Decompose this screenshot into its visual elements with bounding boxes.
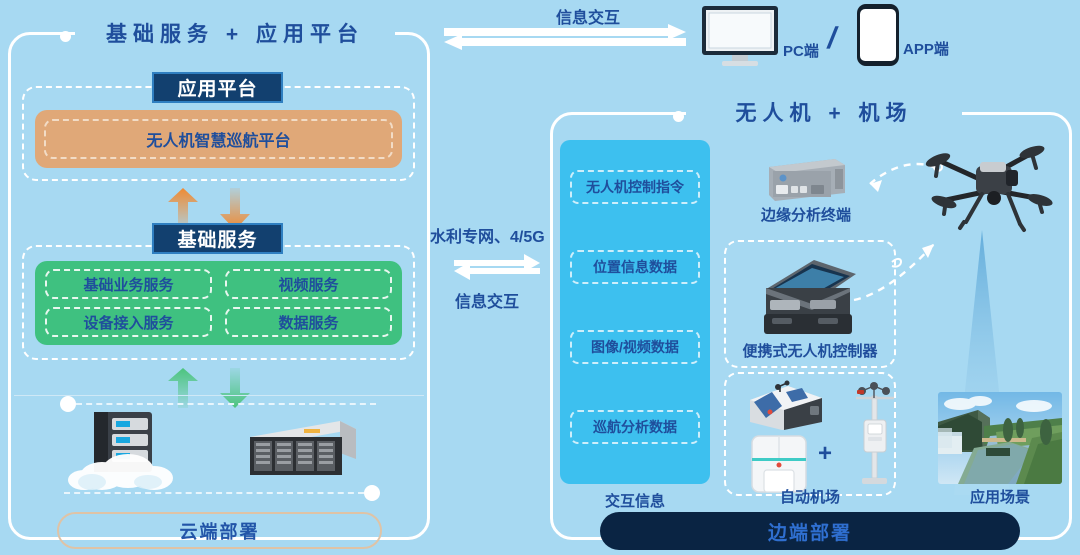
pc-monitor-icon — [700, 4, 780, 66]
middle-exchange-arrows — [452, 250, 542, 284]
rack-server-icon — [240, 415, 358, 481]
weather-station-icon — [848, 374, 902, 488]
interaction-info-caption: 交互信息 — [560, 490, 710, 511]
info-chip-image-video-data[interactable]: 图像/视频数据 — [570, 330, 700, 364]
diagram-canvas: 基础服务 + 应用平台 应用平台 无人机智慧巡航平台 基础服务 基础业务服务 视… — [0, 0, 1080, 555]
drone-icon — [920, 136, 1070, 241]
plus-symbol: + — [818, 440, 832, 468]
smartphone-icon — [856, 3, 900, 67]
service-data[interactable]: 数据服务 — [225, 307, 392, 337]
left-panel-dot-left — [60, 31, 71, 42]
top-exchange-arrows — [440, 24, 690, 52]
cloud-top-dashline — [76, 403, 376, 405]
portable-uav-controller-icon — [752, 248, 862, 336]
application-platform-box: 无人机智慧巡航平台 — [35, 110, 402, 168]
application-scene-photo — [938, 392, 1062, 484]
right-panel-title: 无人机 + 机场 — [686, 103, 962, 125]
application-scene-label: 应用场景 — [930, 486, 1070, 507]
basic-service-box: 基础业务服务 视频服务 设备接入服务 数据服务 — [35, 261, 402, 345]
cloud-server-icon — [62, 408, 192, 490]
drone-dock-station-icon — [742, 378, 828, 434]
application-platform-chip: 应用平台 — [152, 72, 283, 103]
basic-service-chip: 基础服务 — [152, 223, 283, 254]
info-chip-cruise-analysis-data[interactable]: 巡航分析数据 — [570, 410, 700, 444]
edge-deployment-pill: 边端部署 — [600, 512, 1020, 550]
uav-smart-cruise-platform-item[interactable]: 无人机智慧巡航平台 — [44, 119, 393, 159]
cloud-bottom-dot — [364, 485, 380, 501]
app-label: APP端 — [903, 38, 949, 59]
service-video[interactable]: 视频服务 — [225, 269, 392, 299]
cloud-bottom-dashline — [64, 492, 364, 494]
right-panel-dot-left — [673, 111, 684, 122]
separator-slash: / — [824, 22, 840, 56]
info-chip-uav-control-command[interactable]: 无人机控制指令 — [570, 170, 700, 204]
portable-dock-icon — [746, 432, 812, 494]
info-chip-position-data[interactable]: 位置信息数据 — [570, 250, 700, 284]
left-panel-title: 基础服务 + 应用平台 — [75, 24, 395, 46]
portable-uav-controller-label: 便携式无人机控制器 — [724, 340, 896, 361]
interaction-info-column: 无人机控制指令 位置信息数据 图像/视频数据 巡航分析数据 — [560, 140, 710, 484]
service-basic-business[interactable]: 基础业务服务 — [45, 269, 212, 299]
automatic-airport-label: 自动机场 — [724, 486, 896, 507]
service-device-access[interactable]: 设备接入服务 — [45, 307, 212, 337]
edge-analysis-terminal-icon — [763, 155, 849, 203]
middle-exchange-label: 信息交互 — [455, 288, 519, 312]
network-label: 水利专网、4/5G — [430, 223, 545, 247]
cloud-deployment-pill: 云端部署 — [57, 512, 382, 549]
cloud-section-divider — [14, 395, 424, 396]
pc-label: PC端 — [783, 40, 819, 61]
